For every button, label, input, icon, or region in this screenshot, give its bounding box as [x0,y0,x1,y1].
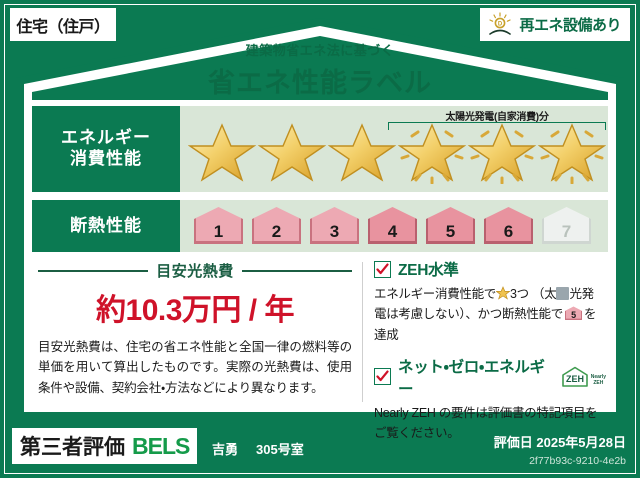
evaluation-date: 評価日 2025年5月28日 [494,432,626,451]
inline-star-icon [496,286,510,300]
energy-cost-block: 目安光熱費 約10.3万円 / 年 目安光熱費は、住宅の省エネ性能と全国一律の燃… [38,260,352,398]
insulation-grade-5-label: 5 [424,206,477,246]
insulation-grade-2-label: 2 [250,206,303,246]
zeh-standard-text-2: 3つ （太 [510,287,556,301]
star-5-solar [468,120,536,184]
zeh-net-zero-title: ネット・ゼロ・エネルギー [398,355,550,399]
zeh-logo-subtext: Nearly ZEH [591,375,606,388]
insulation-performance-row: 断熱性能 1 2 [32,200,608,252]
dwelling-type-label: 住宅（住戸） [16,13,109,37]
insulation-performance-label-key: 断熱性能 [32,200,180,252]
inline-grade-badge: 5 [564,306,583,321]
energy-performance-row: エネルギー 消費性能 太陽光発電(自家消費)分 [32,106,608,192]
main-panel: エネルギー 消費性能 太陽光発電(自家消費)分 [26,100,614,412]
insulation-performance-value: 1 2 3 [180,200,608,252]
evaluation-date-label: 評価日 [494,435,533,450]
energy-cost-amount: 約10.3万円 / 年 [38,285,352,329]
zeh-net-zero-heading: ネット・ゼロ・エネルギー ZEH Nearly ZEH [374,355,606,399]
bels-chip-en-label: BELS [132,433,189,460]
energy-performance-label-key: エネルギー 消費性能 [32,106,180,192]
sun-icon: D [486,12,514,38]
energy-key-line2: 消費性能 [70,149,142,170]
insulation-grade-3-label: 3 [308,206,361,246]
heading-rule-left [38,270,148,272]
star-6-solar [538,120,606,184]
building-name: 吉勇 [212,439,238,458]
redacted-character [556,287,569,300]
energy-performance-label: 住宅（住戸） D 再エネ設備あり 建築物省エネ法に基づく 省エネ性能ラベル [0,0,640,478]
renewable-equipment-chip: D 再エネ設備あり [480,8,630,41]
evaluation-id: 2f77b93c-9210-4e2b [529,455,626,467]
zeh-item-standard: ZEH水準 エネルギー消費性能で3つ （太光発電は考慮しない）、かつ断熱性能で5… [374,258,606,345]
energy-cost-description: 目安光熱費は、住宅の省エネ性能と全国一律の燃料等の単価を用いて算出したものです。… [38,337,352,398]
insulation-grade-5: 5 [424,206,477,246]
insulation-grade-4: 4 [366,206,419,246]
insulation-grade-2: 2 [250,206,303,246]
insulation-grade-6-label: 6 [482,206,535,246]
heading-rule-right [242,270,352,272]
energy-cost-heading-text: 目安光熱費 [156,260,234,281]
vertical-divider [362,262,363,402]
zeh-standard-text-1: エネルギー消費性能で [374,287,496,301]
zeh-house-logo-icon: ZEH Nearly ZEH [560,366,606,388]
label-footer: 第三者評価 BELS 吉勇 305号室 評価日 2025年5月28日 2f77b… [0,420,640,478]
insulation-grade-7-label: 7 [540,206,593,246]
insulation-grade-1-label: 1 [192,206,245,246]
insulation-grade-6: 6 [482,206,535,246]
bels-chip-ja-label: 第三者評価 [20,431,125,461]
zeh-standard-heading: ZEH水準 [374,258,606,280]
energy-cost-heading: 目安光熱費 [38,260,352,281]
zeh-standard-body: エネルギー消費性能で3つ （太光発電は考慮しない）、かつ断熱性能で5を達成 [374,284,606,345]
energy-performance-value: 太陽光発電(自家消費)分 [180,106,608,192]
insulation-key-text: 断熱性能 [70,216,142,237]
insulation-grade-4-label: 4 [366,206,419,246]
star-4-solar [398,120,466,184]
energy-key-line1: エネルギー [61,128,151,149]
star-1 [188,120,256,184]
checkmark-icon-net-zero [374,368,391,385]
checkmark-icon-zeh-standard [374,261,391,278]
star-rating [180,120,606,184]
dwelling-type-chip: 住宅（住戸） [10,8,116,41]
room-number: 305号室 [256,439,304,458]
renewable-equipment-label: 再エネ設備あり [519,14,621,35]
star-3 [328,120,396,184]
zeh-standard-title: ZEH水準 [398,258,459,280]
svg-text:ZEH: ZEH [566,374,584,384]
insulation-grade-7: 7 [540,206,593,246]
insulation-grade-3: 3 [308,206,361,246]
bels-certification-chip: 第三者評価 BELS [12,428,197,464]
evaluation-date-value: 2025年5月28日 [536,435,626,450]
inline-grade-label: 5 [564,306,583,321]
insulation-grade-scale: 1 2 3 [180,206,593,246]
svg-text:D: D [498,21,503,27]
insulation-grade-1: 1 [192,206,245,246]
star-2 [258,120,326,184]
